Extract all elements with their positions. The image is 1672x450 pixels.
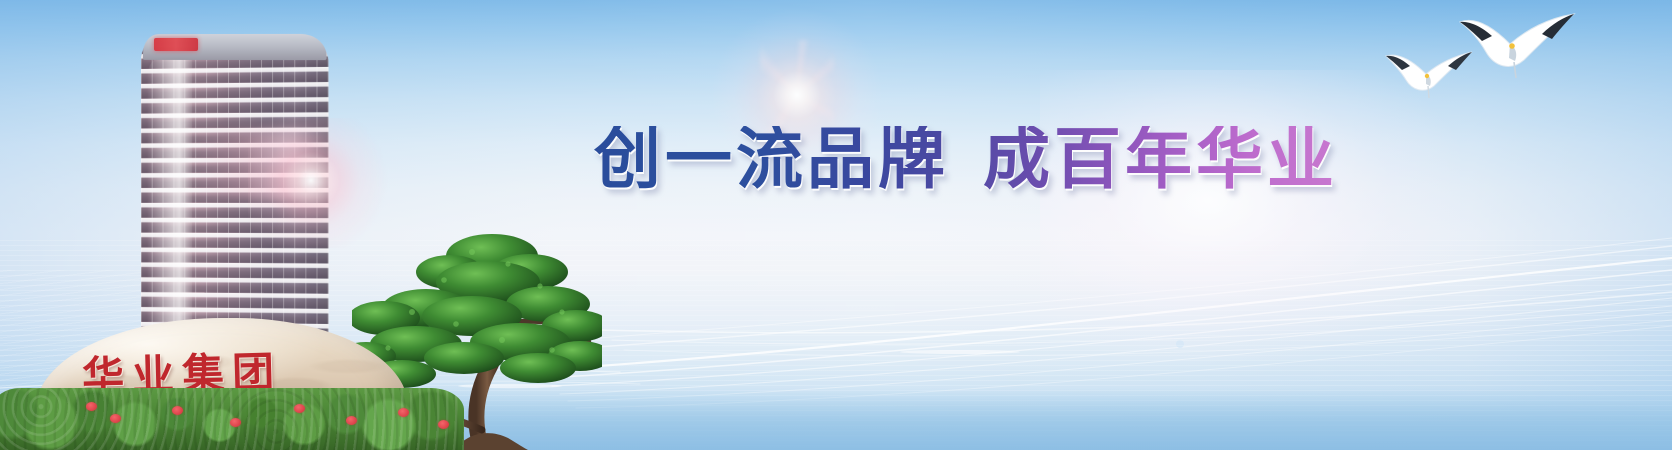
hedge-flower-icon	[230, 418, 241, 427]
hedge-flower-icon	[110, 414, 121, 423]
rooftop-sign	[154, 38, 198, 51]
seagull-icon	[1452, 8, 1588, 84]
hedge-flower-icon	[294, 404, 305, 413]
hedge-flower-icon	[438, 420, 449, 429]
slogan-headline: 创一流品牌成百年华业	[594, 126, 1338, 193]
seagull-icon	[1380, 46, 1484, 104]
hedge-row	[0, 388, 464, 450]
hedge-flower-icon	[172, 406, 183, 415]
slogan-part-1: 创一流品牌	[594, 120, 949, 198]
tower-highlight-edge	[147, 55, 192, 354]
hedge-flower-icon	[86, 402, 97, 411]
slogan-part-2: 成百年华业	[983, 120, 1338, 198]
hedge-flower-icon	[398, 408, 409, 417]
office-tower-image	[132, 24, 337, 354]
company-hero-banner: 创一流品牌成百年华业	[0, 0, 1672, 450]
headline-right-glow	[1040, 70, 1460, 360]
tower-facade	[141, 37, 329, 354]
hedge-flower-icon	[346, 416, 357, 425]
